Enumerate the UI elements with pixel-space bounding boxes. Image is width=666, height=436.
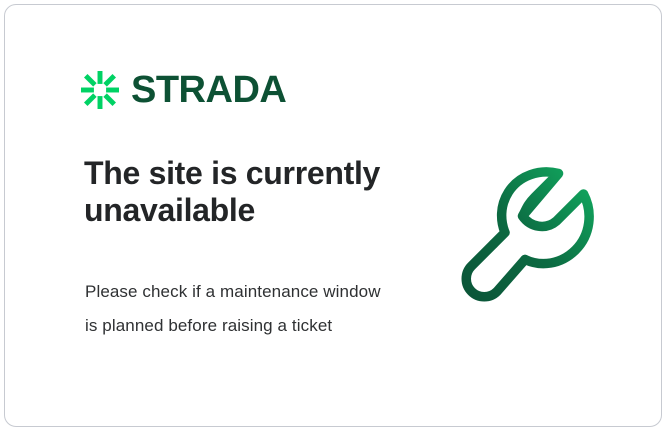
wrench-icon (460, 160, 620, 315)
page-description: Please check if a maintenance window is … (85, 275, 395, 343)
page-title: The site is currently unavailable (84, 155, 414, 229)
brand-wordmark: STRADA (131, 71, 286, 109)
strada-asterisk-starburst-icon (81, 71, 119, 109)
status-card: STRADA The site is currently unavailable… (4, 4, 662, 427)
error-page: STRADA The site is currently unavailable… (0, 0, 666, 436)
brand-lockup: STRADA (81, 71, 286, 109)
